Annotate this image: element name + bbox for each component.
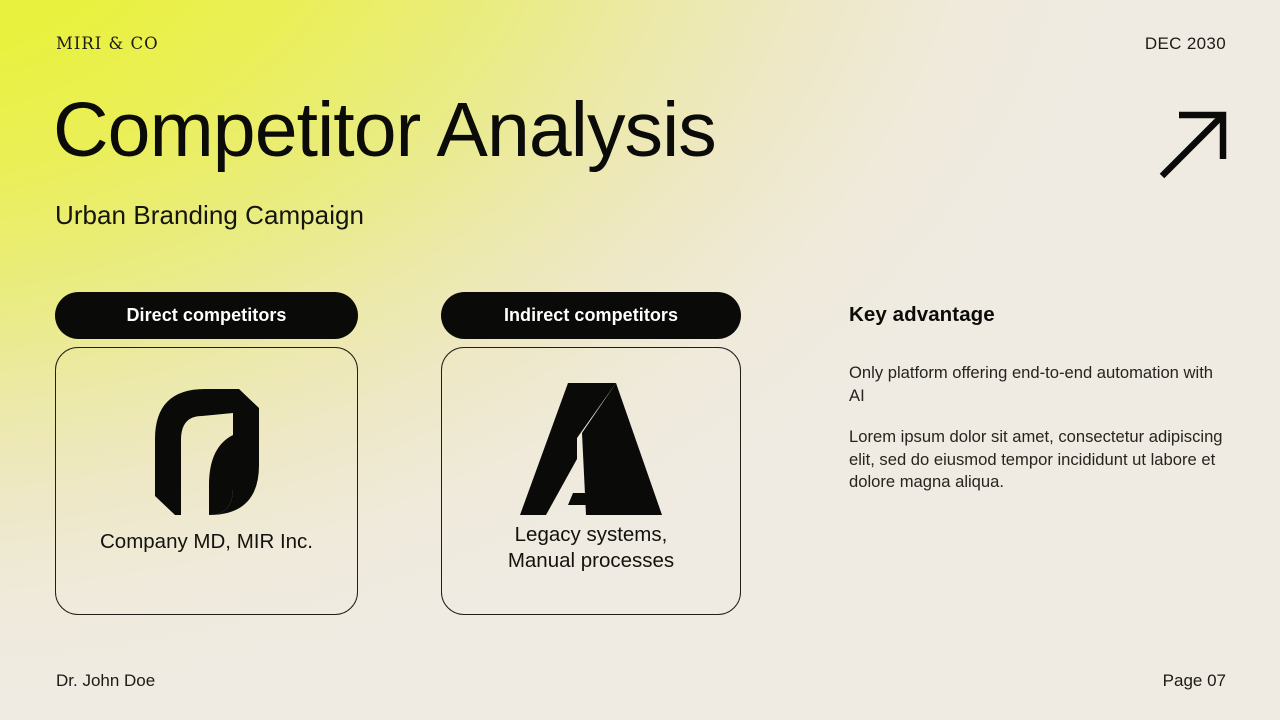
footer-page-number: Page 07: [1163, 671, 1226, 691]
competitor-card-indirect[interactable]: Indirect competitors Legacy systems, Man…: [441, 292, 741, 615]
slide-date: DEC 2030: [1145, 34, 1226, 54]
page-title: Competitor Analysis: [53, 92, 716, 169]
footer-author: Dr. John Doe: [56, 671, 155, 691]
card-body-indirect: Legacy systems, Manual processes: [441, 347, 741, 615]
card-label-indirect-line-2: Manual processes: [508, 548, 674, 574]
abstract-a-monogram-logo: [516, 381, 666, 516]
brand-name: MIRI & CO: [56, 34, 159, 53]
key-advantage-paragraph-1: Only platform offering end-to-end automa…: [849, 362, 1231, 407]
key-advantage-heading: Key advantage: [849, 303, 995, 327]
card-badge-indirect: Indirect competitors: [441, 292, 741, 339]
arrow-up-right-icon: [1158, 108, 1230, 180]
card-label-indirect-line-1: Legacy systems,: [508, 522, 674, 548]
page-subtitle: Urban Branding Campaign: [55, 200, 364, 231]
key-advantage-paragraph-2: Lorem ipsum dolor sit amet, consectetur …: [849, 426, 1231, 494]
card-label-direct: Company MD, MIR Inc.: [100, 529, 313, 555]
card-label-indirect: Legacy systems, Manual processes: [508, 522, 674, 574]
card-body-direct: Company MD, MIR Inc.: [55, 347, 358, 615]
slide-root: MIRI & CO DEC 2030 Competitor Analysis U…: [0, 0, 1280, 720]
card-badge-direct: Direct competitors: [55, 292, 358, 339]
abstract-d-monogram-logo: [148, 384, 266, 519]
competitor-card-direct[interactable]: Direct competitors Company MD, MIR Inc.: [55, 292, 358, 615]
